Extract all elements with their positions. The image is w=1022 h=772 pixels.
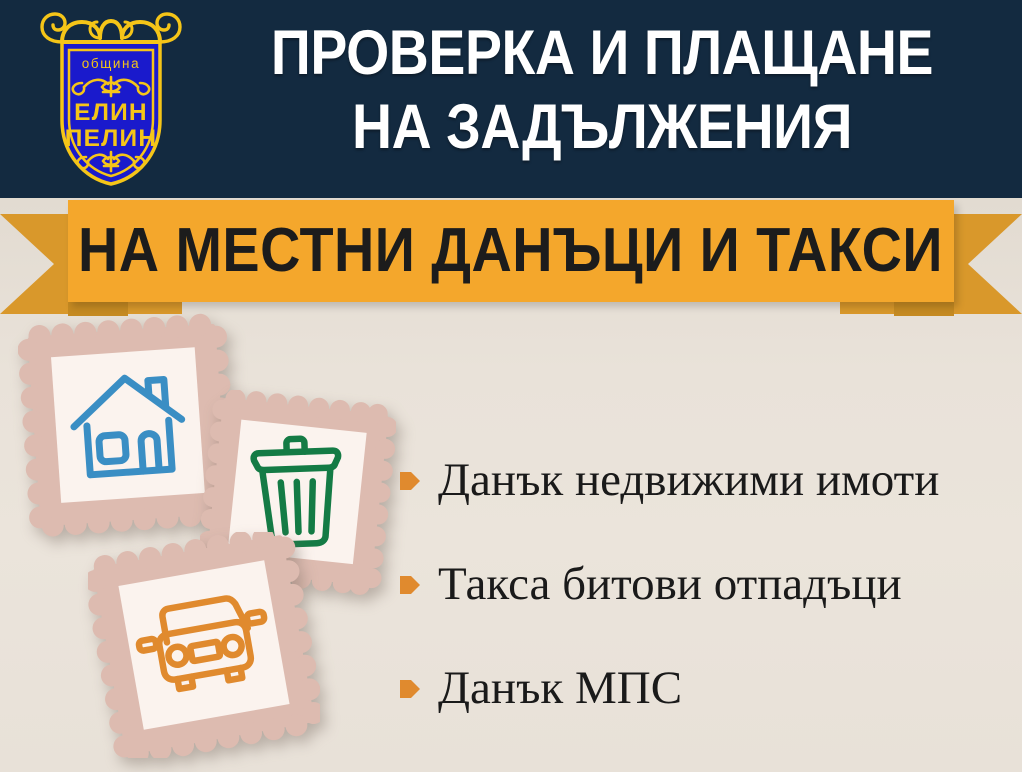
page-title: ПРОВЕРКА И ПЛАЩАНЕ НА ЗАДЪЛЖЕНИЯ [196,16,1008,164]
list-item-label: Такса битови отпадъци [438,559,902,609]
poster-canvas: община ЕЛИН ПЕЛИН [0,0,1022,772]
ribbon-band: НА МЕСТНИ ДАНЪЦИ И ТАКСИ [68,200,954,302]
list-item-label: Данък МПС [438,663,682,713]
stamp-card-car [88,532,320,758]
ribbon-banner: НА МЕСТНИ ДАНЪЦИ И ТАКСИ [0,196,1022,316]
svg-text:ЕЛИН: ЕЛИН [74,99,148,126]
svg-text:ПЕЛИН: ПЕЛИН [65,125,157,152]
arrow-bullet-icon [400,678,420,700]
tax-type-list: Данък недвижими имоти Такса битови отпад… [400,428,1010,740]
list-item: Данък недвижими имоти [400,428,1010,532]
header-bar: община ЕЛИН ПЕЛИН [0,0,1022,198]
title-line-1: ПРОВЕРКА И ПЛАЩАНЕ [245,16,960,90]
arrow-bullet-icon [400,574,420,596]
title-line-2: НА ЗАДЪЛЖЕНИЯ [245,90,960,164]
list-item-label: Данък недвижими имоти [438,455,939,505]
list-item: Данък МПС [400,636,1010,740]
ribbon-label: НА МЕСТНИ ДАНЪЦИ И ТАКСИ [79,220,944,282]
arrow-bullet-icon [400,470,420,492]
municipality-crest-logo: община ЕЛИН ПЕЛИН [30,8,192,190]
svg-text:община: община [82,56,140,71]
list-item: Такса битови отпадъци [400,532,1010,636]
